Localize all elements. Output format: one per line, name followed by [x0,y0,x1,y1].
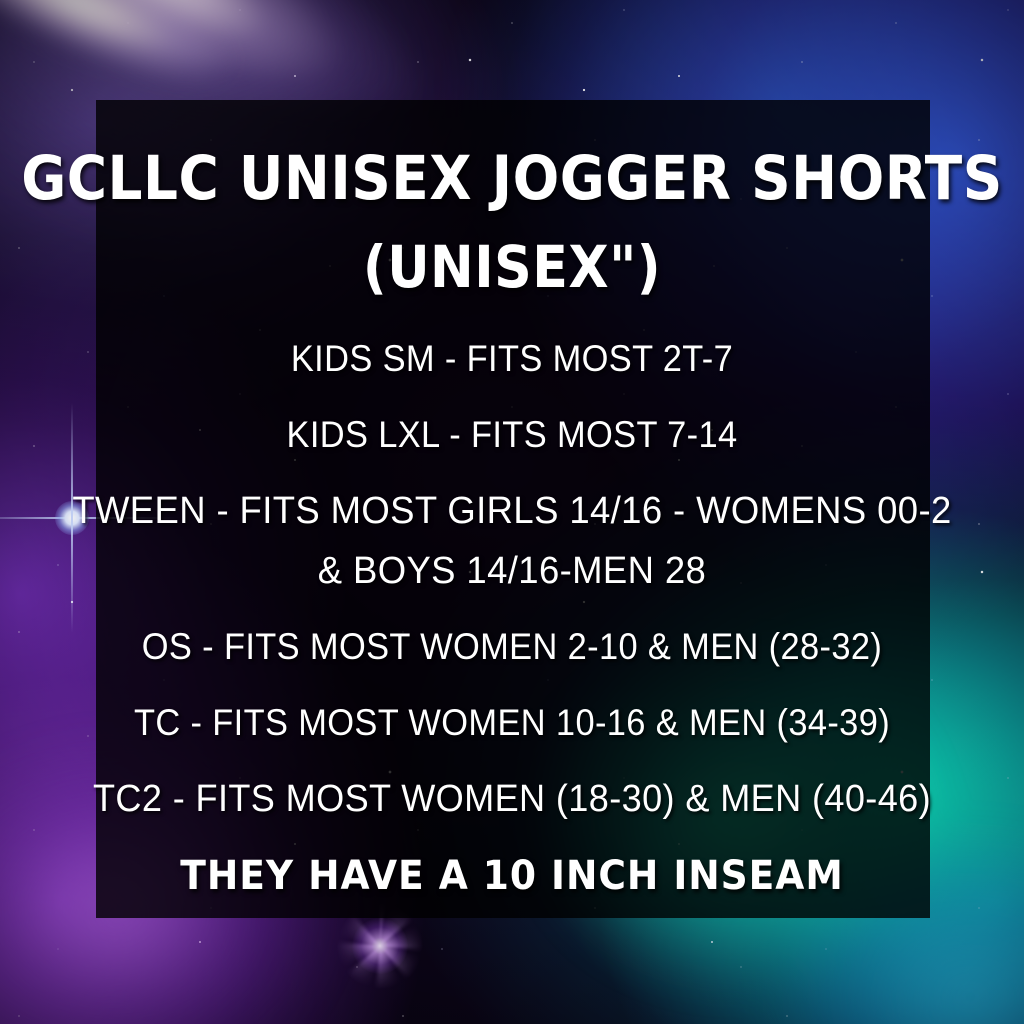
inseam-note: THEY HAVE A 10 INCH INSEAM [31,856,994,896]
size-chart-graphic: GCLLC UNISEX JOGGER SHORTS (UNISEX") KID… [0,0,1024,1024]
size-row-tween-line1: TWEEN - FITS MOST GIRLS 14/16 - WOMENS 0… [20,492,1003,530]
size-row-tc2: TC2 - FITS MOST WOMEN (18-30) & MEN (40-… [26,780,999,818]
size-row-kids-lxl: KIDS LXL - FITS MOST 7-14 [36,416,988,453]
chart-content: GCLLC UNISEX JOGGER SHORTS (UNISEX") KID… [0,0,1024,1024]
size-row-tc: TC - FITS MOST WOMEN 10-16 & MEN (34-39) [36,704,988,741]
page-title: GCLLC UNISEX JOGGER SHORTS [0,148,1024,209]
size-row-tween-line2: & BOYS 14/16-MEN 28 [20,552,1003,590]
page-subtitle: (UNISEX") [0,238,1024,296]
size-row-kids-sm: KIDS SM - FITS MOST 2T-7 [36,340,988,377]
size-row-os: OS - FITS MOST WOMEN 2-10 & MEN (28-32) [36,628,988,665]
